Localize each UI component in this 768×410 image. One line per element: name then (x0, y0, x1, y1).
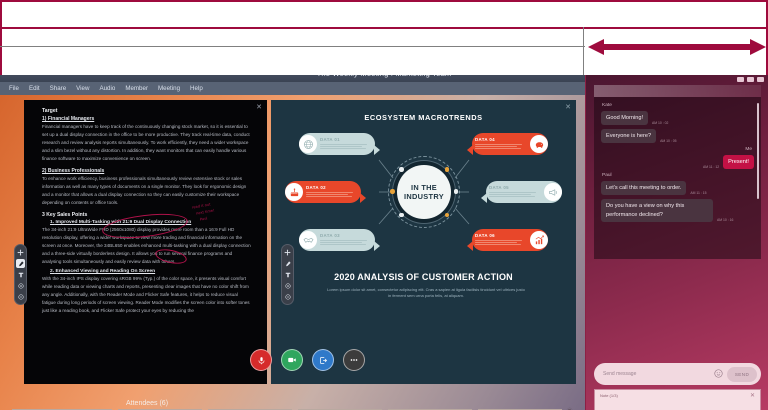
sales-point-label-2: Enhanced Viewing and Reading On Screen (55, 269, 155, 274)
bubble-tail (374, 241, 380, 251)
note-card[interactable]: Note (1/3) ✕ Customers Society Governmen… (594, 389, 761, 410)
hub-label-line2: INDUSTRY (404, 192, 444, 201)
meeting-control-bar[interactable] (250, 349, 365, 371)
bubble-text: DATA 04 (472, 137, 530, 150)
bubble-label: DATA 05 (489, 185, 541, 190)
gear-icon[interactable] (566, 401, 573, 410)
pen-icon[interactable] (283, 259, 292, 268)
chat-message-row: AM 11 : 12 Present! (601, 155, 754, 169)
chat-input-placeholder[interactable]: Send message (603, 371, 714, 377)
shared-document-pane[interactable]: ✕ Target 1) Financial Managers Financial… (24, 100, 267, 384)
options-icon[interactable] (283, 292, 292, 301)
document-section-body-1: Financial managers have to keep track of… (42, 123, 252, 162)
sales-point-number-2: 2. (50, 269, 54, 274)
bubble-text: DATA 05 (486, 185, 544, 198)
hub-node-bl (399, 213, 404, 218)
bubble-placeholder-lines (475, 240, 527, 245)
document-content: Target 1) Financial Managers Financial m… (42, 108, 252, 315)
bubble-placeholder-lines (475, 144, 527, 149)
smiley-icon[interactable] (714, 365, 723, 383)
document-heading: Target (42, 108, 252, 114)
slide-caption: Lorem ipsum dolor sit amet, consectetur … (326, 287, 526, 299)
growth-chart-icon (530, 231, 548, 249)
sales-point-title-2: 2. Enhanced Viewing and Reading On Scree… (50, 269, 252, 274)
menu-item-help[interactable]: Help (185, 85, 208, 92)
annotation-edge-left (0, 0, 2, 75)
slide-annotation-toolbar[interactable] (281, 244, 294, 305)
data-bubble-02[interactable]: DATA 02 (285, 181, 361, 203)
send-button[interactable]: SEND (727, 367, 757, 382)
move-icon[interactable] (283, 248, 292, 257)
chat-bubble: Present! (723, 155, 754, 169)
chat-bubble: Let's call this meeting to order. (601, 181, 686, 195)
chat-bubble: Good Morning! (601, 111, 648, 125)
document-section-title-2: 2) Business Professionals (42, 168, 252, 174)
cake-icon (285, 183, 303, 201)
piggy-bank-icon (530, 135, 548, 153)
bubble-label: DATA 03 (320, 233, 372, 238)
share-screen-button[interactable] (312, 349, 334, 371)
text-icon[interactable] (16, 270, 25, 279)
menu-item-view[interactable]: View (71, 85, 94, 92)
bubble-placeholder-lines (306, 192, 358, 197)
chat-timestamp: AM 10 : 02 (652, 121, 668, 125)
text-icon[interactable] (283, 270, 292, 279)
hub-node-r (454, 189, 459, 194)
bubble-tail (481, 193, 487, 203)
data-bubble-05[interactable]: DATA 05 (486, 181, 562, 203)
hub-label-line1: IN THE (411, 183, 437, 192)
close-icon[interactable] (757, 77, 764, 82)
chat-message-list[interactable]: Kate Good Morning! AM 10 : 02 Everyone i… (594, 97, 761, 259)
bubble-tail (374, 145, 380, 155)
slide-subtitle: 2020 ANALYSIS OF CUSTOMER ACTION (271, 272, 576, 282)
bubble-text: DATA 06 (472, 233, 530, 246)
bubble-text: DATA 01 (317, 137, 375, 150)
close-icon[interactable]: ✕ (256, 103, 262, 111)
bubble-text: DATA 03 (317, 233, 375, 246)
maximize-icon[interactable] (747, 77, 754, 82)
settings-icon[interactable] (283, 281, 292, 290)
sales-point-number-1: 1. (50, 220, 54, 225)
microphone-button[interactable] (250, 349, 272, 371)
hub-node-br (445, 213, 450, 218)
bubble-label: DATA 04 (475, 137, 527, 142)
data-bubble-04[interactable]: DATA 04 (472, 133, 548, 155)
data-bubble-01[interactable]: DATA 01 (299, 133, 375, 155)
bubble-tail (467, 241, 473, 251)
attendees-label: Attendees (6) (126, 400, 168, 407)
chat-message-row: Everyone is here? AM 10 : 05 (601, 129, 754, 143)
chat-scrollbar[interactable] (757, 103, 759, 199)
bubble-placeholder-lines (320, 144, 372, 149)
width-measure-arrow (588, 36, 766, 58)
chat-input-bar[interactable]: Send message SEND (594, 363, 761, 385)
document-section-body-2: To enhance work efficiency, business pro… (42, 175, 252, 207)
chat-panel[interactable]: Kate Good Morning! AM 10 : 02 Everyone i… (585, 75, 768, 410)
chat-timestamp: AM 10 : 16 (717, 218, 733, 222)
data-bubble-03[interactable]: DATA 03 (299, 229, 375, 251)
annotation-guide-vertical (583, 27, 584, 75)
camera-button[interactable] (281, 349, 303, 371)
diagram-center-hub: IN THE INDUSTRY (388, 156, 460, 228)
bubble-text: DATA 02 (303, 185, 361, 198)
message-sender-kate: Kate (602, 103, 754, 108)
presentation-slide-pane[interactable]: ✕ ECOSYSTEM MACROTRENDS IN THE INDUSTRY (271, 100, 576, 384)
bubble-tail (467, 145, 473, 155)
annotation-guide-horizontal (0, 46, 585, 47)
message-sender-me: Me (602, 147, 752, 152)
bubble-label: DATA 02 (306, 185, 358, 190)
chat-bubble: Everyone is here? (601, 129, 656, 143)
options-icon[interactable] (16, 292, 25, 301)
note-sketch: Customers Society Government STAKEHOLDER… (595, 390, 761, 410)
bubble-label: DATA 06 (475, 233, 527, 238)
bubble-tail (360, 193, 366, 203)
chat-header (594, 85, 761, 97)
chat-bubble: Do you have a view on why this performan… (601, 199, 713, 221)
document-section-title-1: 1) Financial Managers (42, 116, 252, 122)
handshake-icon (299, 231, 317, 249)
chat-window-buttons[interactable] (737, 77, 764, 82)
settings-icon[interactable] (16, 281, 25, 290)
chat-timestamp: AM 10 : 05 (660, 139, 676, 143)
hub-node-tr (445, 167, 450, 172)
annotation-rule-top (0, 0, 768, 2)
menu-item-edit[interactable]: Edit (24, 85, 45, 92)
annotation-rule-mid (0, 27, 768, 29)
minimize-icon[interactable] (737, 77, 744, 82)
hub-node-tl (399, 167, 404, 172)
menu-item-meeting[interactable]: Meeting (153, 85, 185, 92)
chat-timestamp: AM 11 : 12 (703, 165, 719, 169)
bubble-label: DATA 01 (320, 137, 372, 142)
annotation-overlay (0, 0, 768, 75)
hub-node-l (390, 189, 395, 194)
menu-item-member[interactable]: Member (120, 85, 153, 92)
menu-item-file[interactable]: File (4, 85, 24, 92)
message-sender-paul: Paul (602, 173, 754, 178)
megaphone-icon (544, 183, 562, 201)
hub-disc: IN THE INDUSTRY (397, 165, 451, 219)
chat-message-row: Do you have a view on why this performan… (601, 199, 754, 221)
chat-message-row: Let's call this meeting to order. AM 11 … (601, 181, 754, 195)
document-annotation-toolbar[interactable] (14, 244, 27, 305)
globe-icon (299, 135, 317, 153)
data-bubble-06[interactable]: DATA 06 (472, 229, 548, 251)
move-icon[interactable] (16, 248, 25, 257)
pen-icon[interactable] (16, 259, 25, 268)
more-options-button[interactable] (343, 349, 365, 371)
bubble-placeholder-lines (489, 192, 541, 197)
sales-point-body-2: With the 34-inch IPS display covering sR… (42, 275, 252, 314)
hub-label: IN THE INDUSTRY (404, 183, 444, 202)
chat-message-row: Good Morning! AM 10 : 02 (601, 111, 754, 125)
menu-item-share[interactable]: Share (45, 85, 72, 92)
bubble-placeholder-lines (320, 240, 372, 245)
menu-item-audio[interactable]: Audio (94, 85, 120, 92)
chat-timestamp: AM 11 : 15 (690, 191, 706, 195)
